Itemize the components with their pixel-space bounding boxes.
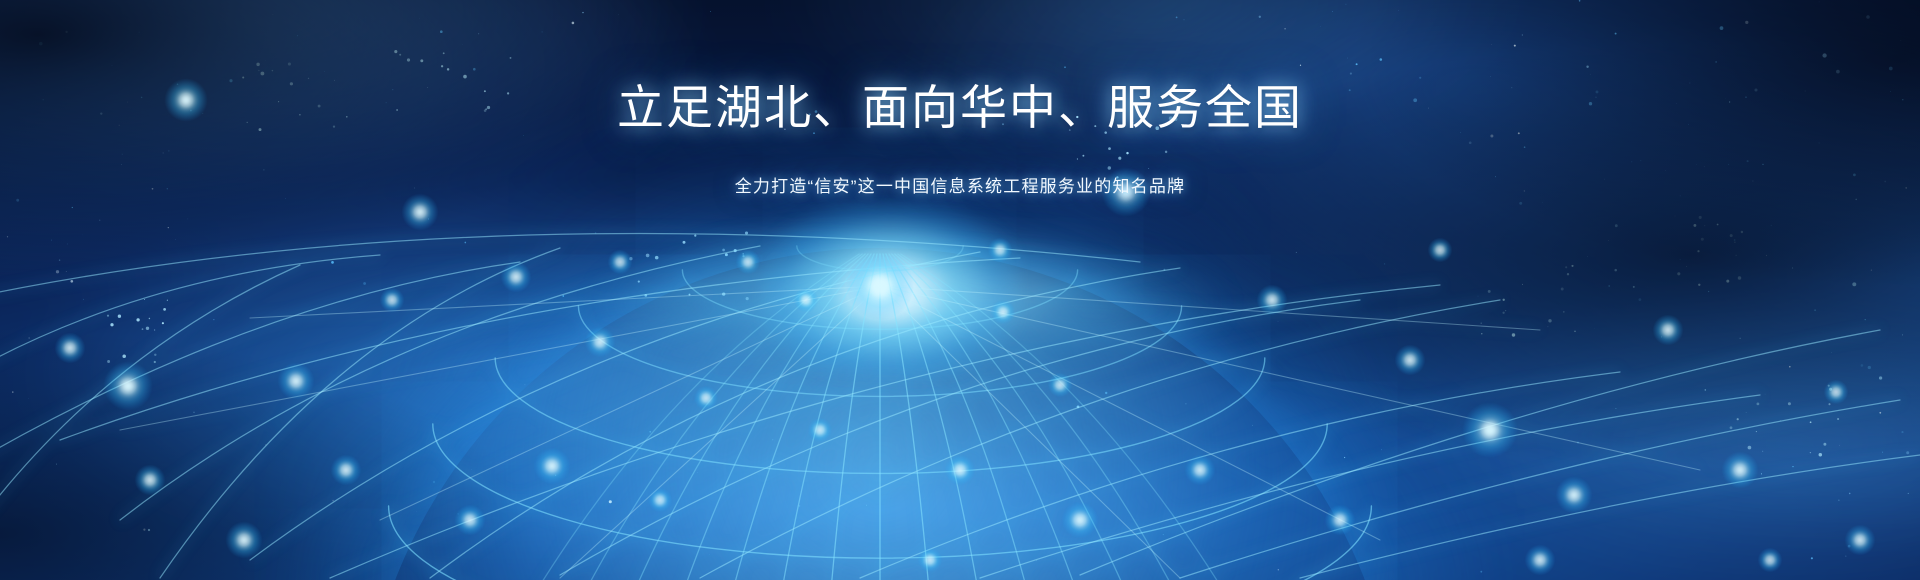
banner-headline: 立足湖北、面向华中、服务全国: [0, 84, 1920, 131]
banner-subline: 全力打造“信安”这一中国信息系统工程服务业的知名品牌: [0, 178, 1920, 195]
hero-banner: 立足湖北、面向华中、服务全国 全力打造“信安”这一中国信息系统工程服务业的知名品…: [0, 0, 1920, 580]
